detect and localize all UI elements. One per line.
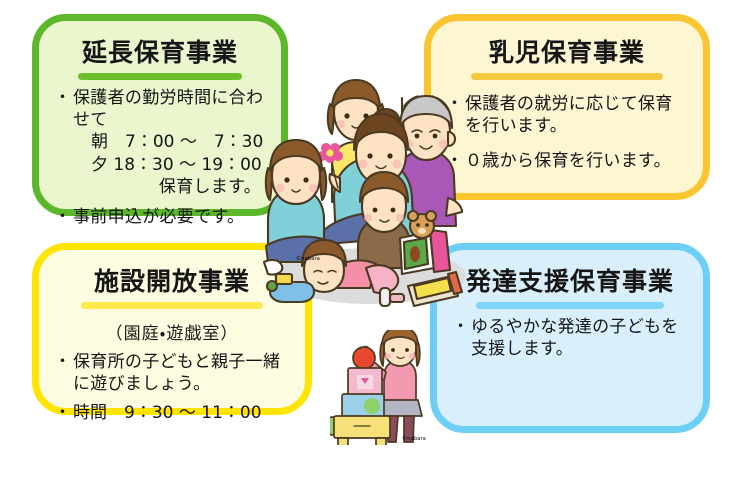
- list-item: ０歳から保育を行います。: [447, 150, 687, 172]
- watermark: ©nabara: [296, 255, 320, 262]
- bullet-text: ゆるやかな発達の子どもを支援します。: [471, 317, 679, 359]
- card-extended-childcare-rule: [78, 73, 242, 80]
- card-developmental-support-content: 発達支援保育事業 ゆるやかな発達の子どもを支援します。: [437, 250, 703, 426]
- card-extended-childcare: 延長保育事業 保護者の勤労時間に合わせて 朝 7：00 ～ 7：30 夕 18：…: [32, 14, 288, 216]
- eye: [373, 208, 378, 213]
- card-infant-childcare-list: 保護者の就労に応じて保育を行います。 ０歳から保育を行います。: [447, 93, 687, 173]
- card-infant-childcare-rule: [471, 73, 663, 80]
- list-item: 保育所の子どもと親子一緒に遊びましょう。: [55, 351, 289, 396]
- list-item: 保護者の就労に応じて保育を行います。: [447, 93, 687, 138]
- teddy-bear: [408, 211, 436, 238]
- bullet-text: 保護者の就労に応じて保育を行います。: [465, 94, 673, 136]
- list-item: 保護者の勤労時間に合わせて 朝 7：00 ～ 7：30 夕 18：30 ～ 19…: [55, 87, 265, 199]
- bullet-subline: 朝 7：00 ～ 7：30: [73, 131, 265, 153]
- block-ball-red: [353, 347, 375, 369]
- eye: [391, 348, 395, 352]
- eye: [433, 134, 438, 139]
- eye: [391, 208, 396, 213]
- bullet-text: 保護者の勤労時間に合わせて: [73, 88, 263, 130]
- card-infant-childcare-title: 乳児保育事業: [447, 39, 687, 67]
- card-developmental-support-list: ゆるやかな発達の子どもを支援します。: [453, 316, 687, 361]
- eye: [303, 177, 308, 182]
- card-facility-opening-list: 保育所の子どもと親子一緒に遊びましょう。 時間 9：30 ～ 11：00: [55, 351, 289, 425]
- card-facility-opening-title: 施設開放事業: [55, 268, 289, 296]
- card-developmental-support: 発達支援保育事業 ゆるやかな発達の子どもを支援します。: [430, 243, 710, 433]
- card-extended-childcare-content: 延長保育事業 保護者の勤労時間に合わせて 朝 7：00 ～ 7：30 夕 18：…: [39, 21, 281, 209]
- eye: [405, 348, 409, 352]
- infographic-root: 延長保育事業 保護者の勤労時間に合わせて 朝 7：00 ～ 7：30 夕 18：…: [0, 0, 738, 483]
- card-developmental-support-rule: [476, 302, 663, 309]
- bullet-text: ０歳から保育を行います。: [465, 151, 671, 171]
- list-item: 時間 9：30 ～ 11：00: [55, 402, 289, 424]
- child-with-blocks-illustration: .o2 { stroke:#4a3a22; stroke-width:1.7; …: [330, 330, 442, 445]
- list-item: 事前申込が必要です。: [55, 206, 265, 228]
- bullet-text: 時間 9：30 ～ 11：00: [73, 403, 262, 423]
- list-item: ゆるやかな発達の子どもを支援します。: [453, 316, 687, 361]
- card-developmental-support-title: 発達支援保育事業: [453, 268, 687, 296]
- bullet-subline: 保育します。: [73, 176, 265, 198]
- block-yellow: [334, 416, 390, 438]
- watermark: ©nabara: [402, 435, 426, 442]
- card-extended-childcare-title: 延長保育事業: [55, 39, 265, 67]
- eye: [367, 153, 372, 158]
- eye: [344, 113, 349, 118]
- card-facility-opening-rule: [81, 302, 264, 309]
- card-extended-childcare-list: 保護者の勤労時間に合わせて 朝 7：00 ～ 7：30 夕 18：30 ～ 19…: [55, 87, 265, 229]
- eye: [387, 153, 392, 158]
- eye: [284, 177, 289, 182]
- card-facility-opening-subtitle: （園庭・遊戯室）: [55, 319, 289, 344]
- bullet-subline: 夕 18：30 ～ 19：00: [73, 154, 265, 176]
- family-group-illustration: .ol { stroke:#4a3a22; stroke-width:2.1; …: [262, 70, 472, 310]
- bullet-text: 保育所の子どもと親子一緒に遊びましょう。: [73, 352, 280, 394]
- bullet-text: 事前申込が必要です。: [73, 207, 244, 227]
- shoe: [264, 260, 282, 275]
- eye: [415, 134, 420, 139]
